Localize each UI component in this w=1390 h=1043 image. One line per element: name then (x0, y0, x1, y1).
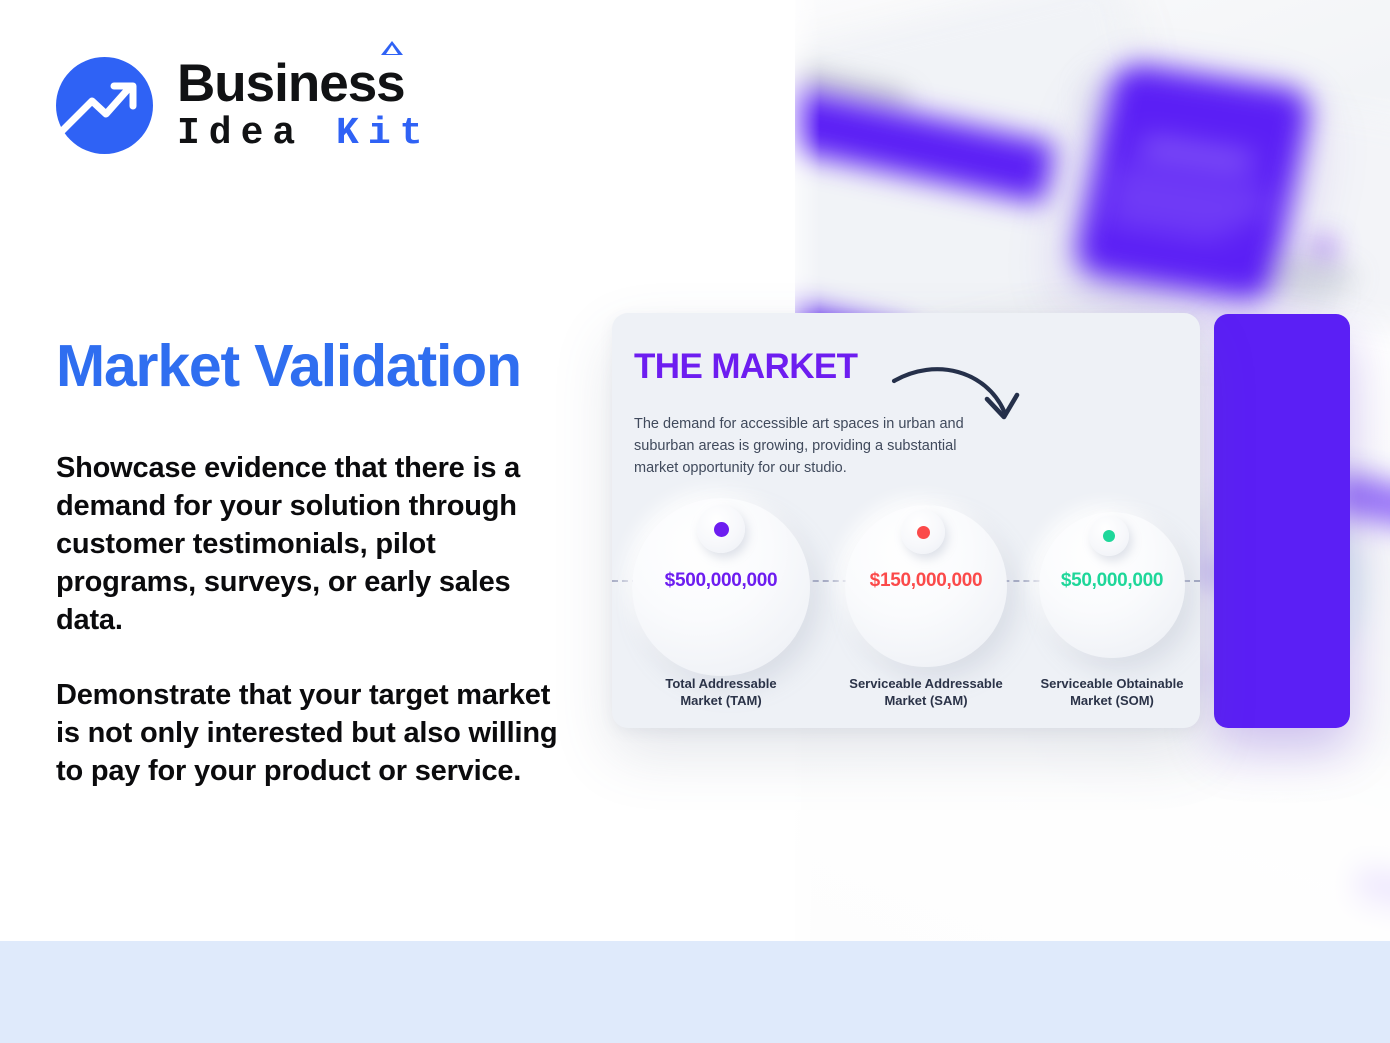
purple-accent-panel (1214, 314, 1350, 728)
brand-caret-icon (381, 41, 403, 55)
segment-caption-line-2: Market (SAM) (827, 693, 1025, 710)
slide-canvas: Business Idea Kit Market Validation Show… (0, 0, 1390, 1043)
market-segments: $500,000,000 Total Addressable Market (T… (612, 313, 1200, 728)
segment-caption-line-1: Serviceable Addressable (827, 676, 1025, 693)
brand-business-text: Business (177, 54, 405, 113)
bottom-accent-band (0, 941, 1390, 1043)
segment-caption-line-2: Market (TAM) (632, 693, 810, 710)
segment-caption-line-1: Total Addressable (632, 676, 810, 693)
brand-idea-text: Idea (177, 112, 304, 155)
red-status-dot-icon (917, 526, 930, 539)
green-status-dot-icon (1103, 530, 1115, 542)
brand-line-1: Business (177, 57, 405, 110)
segment-caption-line-2: Market (SOM) (1013, 693, 1200, 710)
brand-line-2: Idea Kit (177, 114, 431, 154)
brand-kit-text: Kit (336, 112, 431, 155)
segment-caption-line-1: Serviceable Obtainable (1013, 676, 1200, 693)
market-card: THE MARKET The demand for accessible art… (612, 313, 1200, 728)
page-title: Market Validation (56, 336, 521, 398)
body-paragraph-1: Showcase evidence that there is a demand… (56, 450, 576, 640)
brand-wordmark: Business Idea Kit (177, 57, 431, 154)
purple-status-dot-icon (714, 522, 729, 537)
segment-knob (1089, 516, 1129, 556)
segment-value: $500,000,000 (632, 570, 810, 592)
body-paragraph-2: Demonstrate that your target market is n… (56, 677, 576, 791)
brand-logo: Business Idea Kit (56, 57, 431, 154)
growth-arrow-icon (56, 57, 153, 154)
segment-value: $150,000,000 (837, 570, 1015, 592)
segment-knob (697, 505, 745, 553)
segment-knob (901, 510, 945, 554)
segment-value: $50,000,000 (1023, 570, 1200, 592)
bg-dot-purple (1313, 238, 1335, 260)
